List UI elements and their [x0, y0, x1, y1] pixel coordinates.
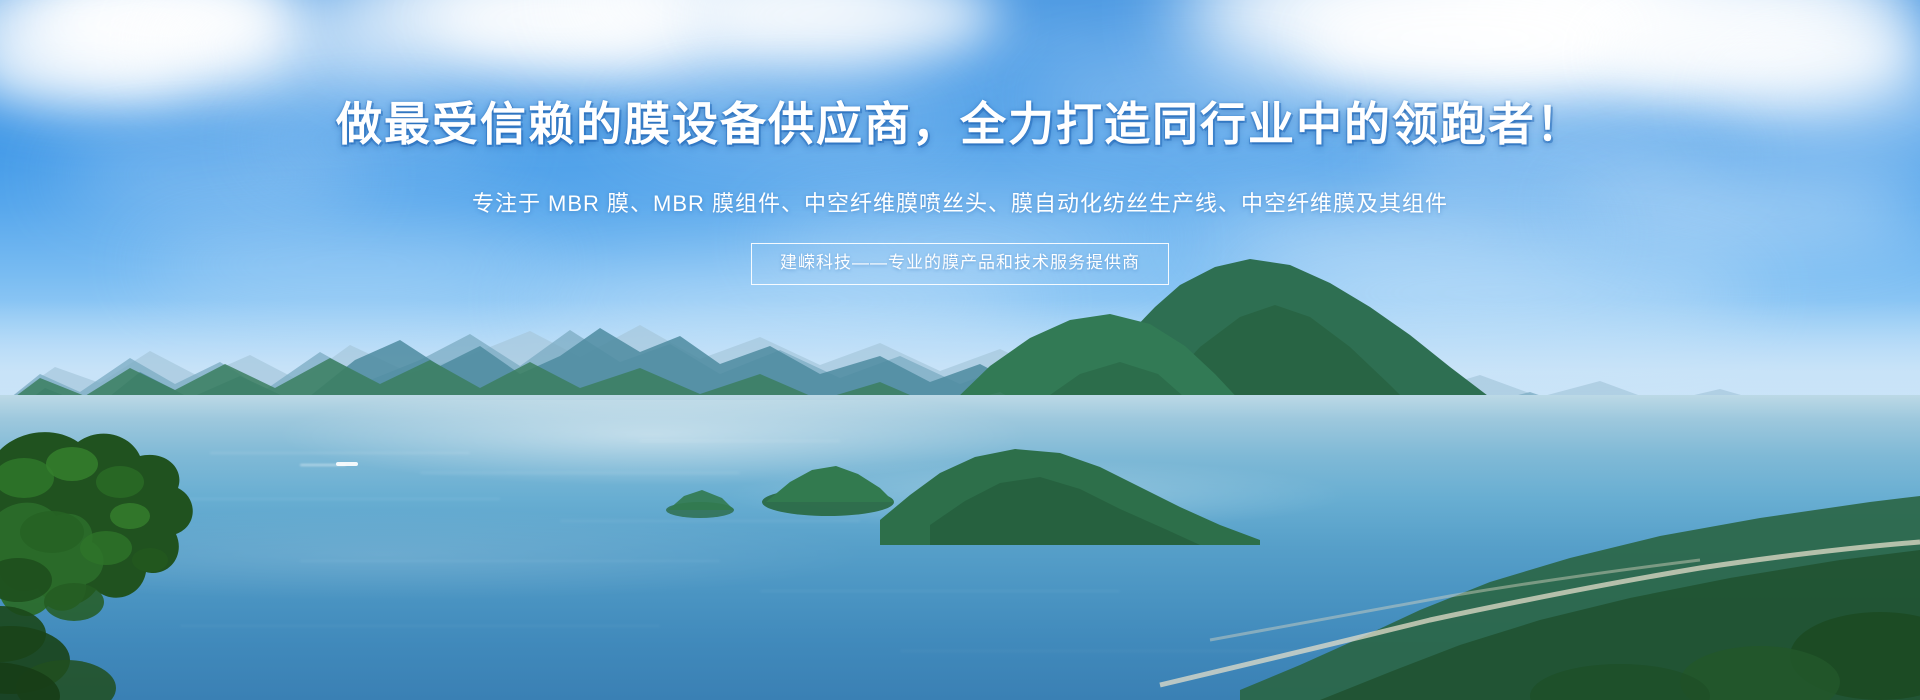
banner-subheadline: 专注于 MBR 膜、MBR 膜组件、中空纤维膜喷丝头、膜自动化纺丝生产线、中空纤…	[0, 188, 1920, 220]
banner-headline: 做最受信赖的膜设备供应商，全力打造同行业中的领跑者！	[0, 100, 1920, 148]
banner-content: 做最受信赖的膜设备供应商，全力打造同行业中的领跑者！ 专注于 MBR 膜、MBR…	[0, 0, 1920, 700]
banner-tagline-wrapper: 建嵘科技——专业的膜产品和技术服务提供商	[0, 243, 1920, 285]
banner-tagline-box: 建嵘科技——专业的膜产品和技术服务提供商	[751, 243, 1169, 285]
hero-banner: 做最受信赖的膜设备供应商，全力打造同行业中的领跑者！ 专注于 MBR 膜、MBR…	[0, 0, 1920, 700]
